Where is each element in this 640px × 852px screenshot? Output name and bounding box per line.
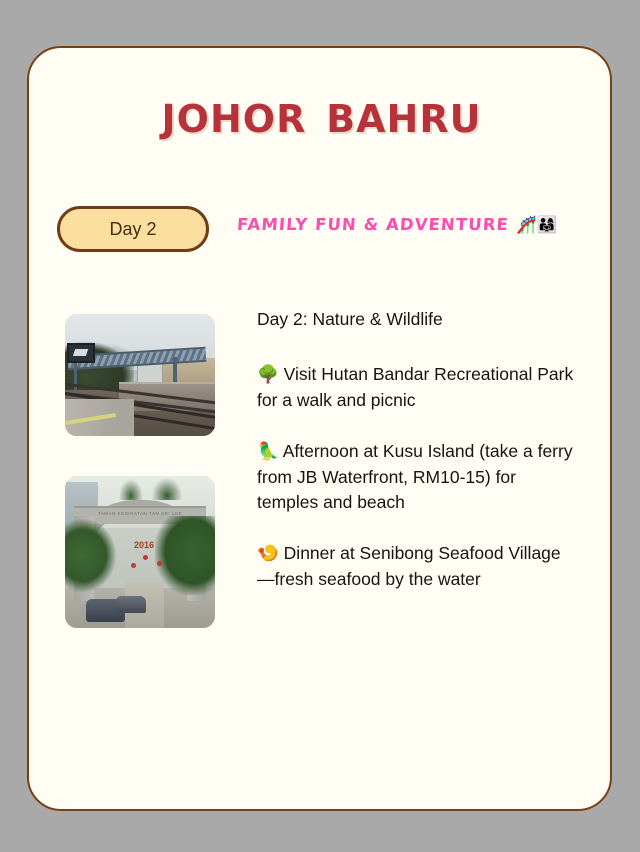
palm-tree-left <box>119 479 143 500</box>
day-heading: Day 2: Nature & Wildlife <box>257 306 577 332</box>
parrot-icon: 🦜 <box>257 442 279 462</box>
rollercoaster-family-icon: 🎢👨‍👩‍👧 <box>516 215 557 235</box>
activity-item: 🦜 Afternoon at Kusu Island (take a ferry… <box>257 439 577 515</box>
activity-text: Afternoon at Kusu Island (take a ferry f… <box>257 441 573 512</box>
foliage-left <box>65 519 116 592</box>
foliage-right <box>155 516 215 595</box>
day-badge-label: Day 2 <box>109 219 156 240</box>
activity-text: Visit Hutan Bandar Recreational Park for… <box>257 364 573 410</box>
shrimp-icon: 🍤 <box>257 544 279 564</box>
activity-item: 🌳 Visit Hutan Bandar Recreational Park f… <box>257 362 577 413</box>
itinerary-text-column: Day 2: Nature & Wildlife 🌳 Visit Hutan B… <box>257 306 577 592</box>
photo-stone-archway-street: TAMAN KESIHATAN TAN SRI LEE 2016 <box>65 476 215 628</box>
photo-railway-station-footbridge <box>65 314 215 436</box>
photo-column: TAMAN KESIHATAN TAN SRI LEE 2016 <box>65 314 217 628</box>
archway-year: 2016 <box>134 540 154 550</box>
itinerary-card: Johor Bahru Day 2 FAMILY FUN & ADVENTURE… <box>27 46 612 811</box>
day-badge[interactable]: Day 2 <box>57 206 209 252</box>
section-subtitle-text: FAMILY FUN & ADVENTURE <box>236 215 509 234</box>
parked-car-behind <box>116 596 146 613</box>
red-lanterns <box>143 555 148 560</box>
page-root: Johor Bahru Day 2 FAMILY FUN & ADVENTURE… <box>0 0 640 852</box>
station-sign <box>67 343 95 363</box>
activity-item: 🍤 Dinner at Senibong Seafood Village—fre… <box>257 541 577 592</box>
header-row: Day 2 FAMILY FUN & ADVENTURE 🎢👨‍👩‍👧 <box>29 206 614 256</box>
page-title: Johor Bahru <box>29 84 614 144</box>
section-subtitle: FAMILY FUN & ADVENTURE 🎢👨‍👩‍👧 <box>236 215 557 235</box>
tree-icon: 🌳 <box>257 365 279 385</box>
palm-tree-right <box>152 478 182 501</box>
activity-text: Dinner at Senibong Seafood Village—fresh… <box>257 543 561 589</box>
